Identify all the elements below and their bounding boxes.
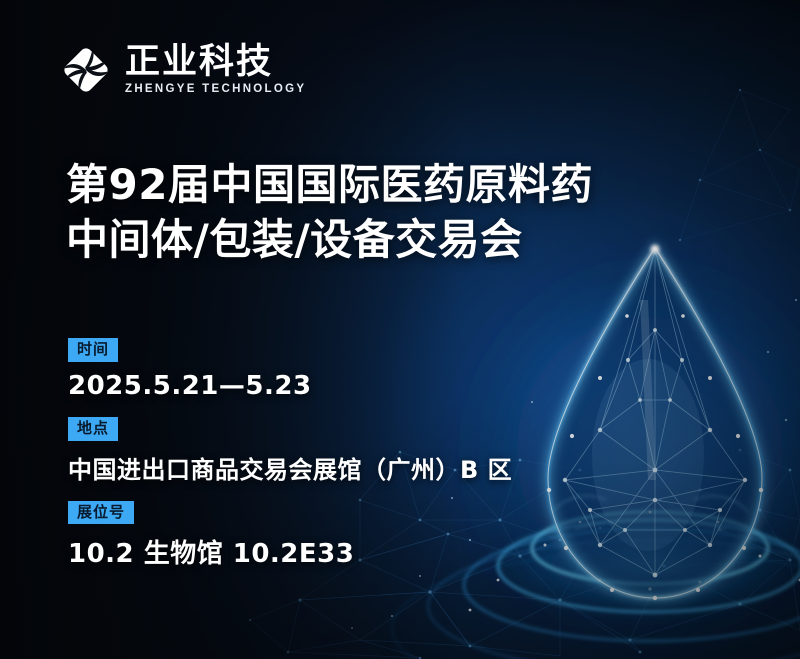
- headline-line-1: 第92届中国国际医药原料药: [66, 160, 593, 209]
- event-info-list: 时间 2025.5.21—5.23 地点 中国进出口商品交易会展馆（广州）B 区…: [68, 338, 628, 570]
- info-value-time: 2025.5.21—5.23: [68, 371, 628, 401]
- brand-logo[interactable]: 正业科技 ZHENGYE TECHNOLOGY: [58, 42, 306, 98]
- info-badge-booth: 展位号: [68, 501, 134, 525]
- brand-name-en: ZHENGYE TECHNOLOGY: [125, 83, 306, 95]
- poster-headline: 第92届中国国际医药原料药 中间体/包装/设备交易会: [66, 158, 686, 267]
- info-badge-time: 时间: [68, 338, 118, 362]
- info-value-booth: 10.2 生物馆 10.2E33: [68, 533, 628, 570]
- info-row-location: 地点 中国进出口商品交易会展馆（广州）B 区: [68, 417, 628, 485]
- info-row-time: 时间 2025.5.21—5.23: [68, 338, 628, 401]
- exhibition-poster: 正业科技 ZHENGYE TECHNOLOGY 第92届中国国际医药原料药 中间…: [0, 0, 800, 659]
- info-value-location: 中国进出口商品交易会展馆（广州）B 区: [68, 450, 628, 485]
- brand-name-cn: 正业科技: [125, 45, 306, 81]
- zhengye-swirl-diamond-icon: [58, 42, 114, 98]
- brand-logo-text: 正业科技 ZHENGYE TECHNOLOGY: [125, 45, 306, 96]
- headline-line-2: 中间体/包装/设备交易会: [66, 213, 686, 268]
- info-badge-location: 地点: [68, 417, 118, 441]
- info-row-booth: 展位号 10.2 生物馆 10.2E33: [68, 501, 628, 571]
